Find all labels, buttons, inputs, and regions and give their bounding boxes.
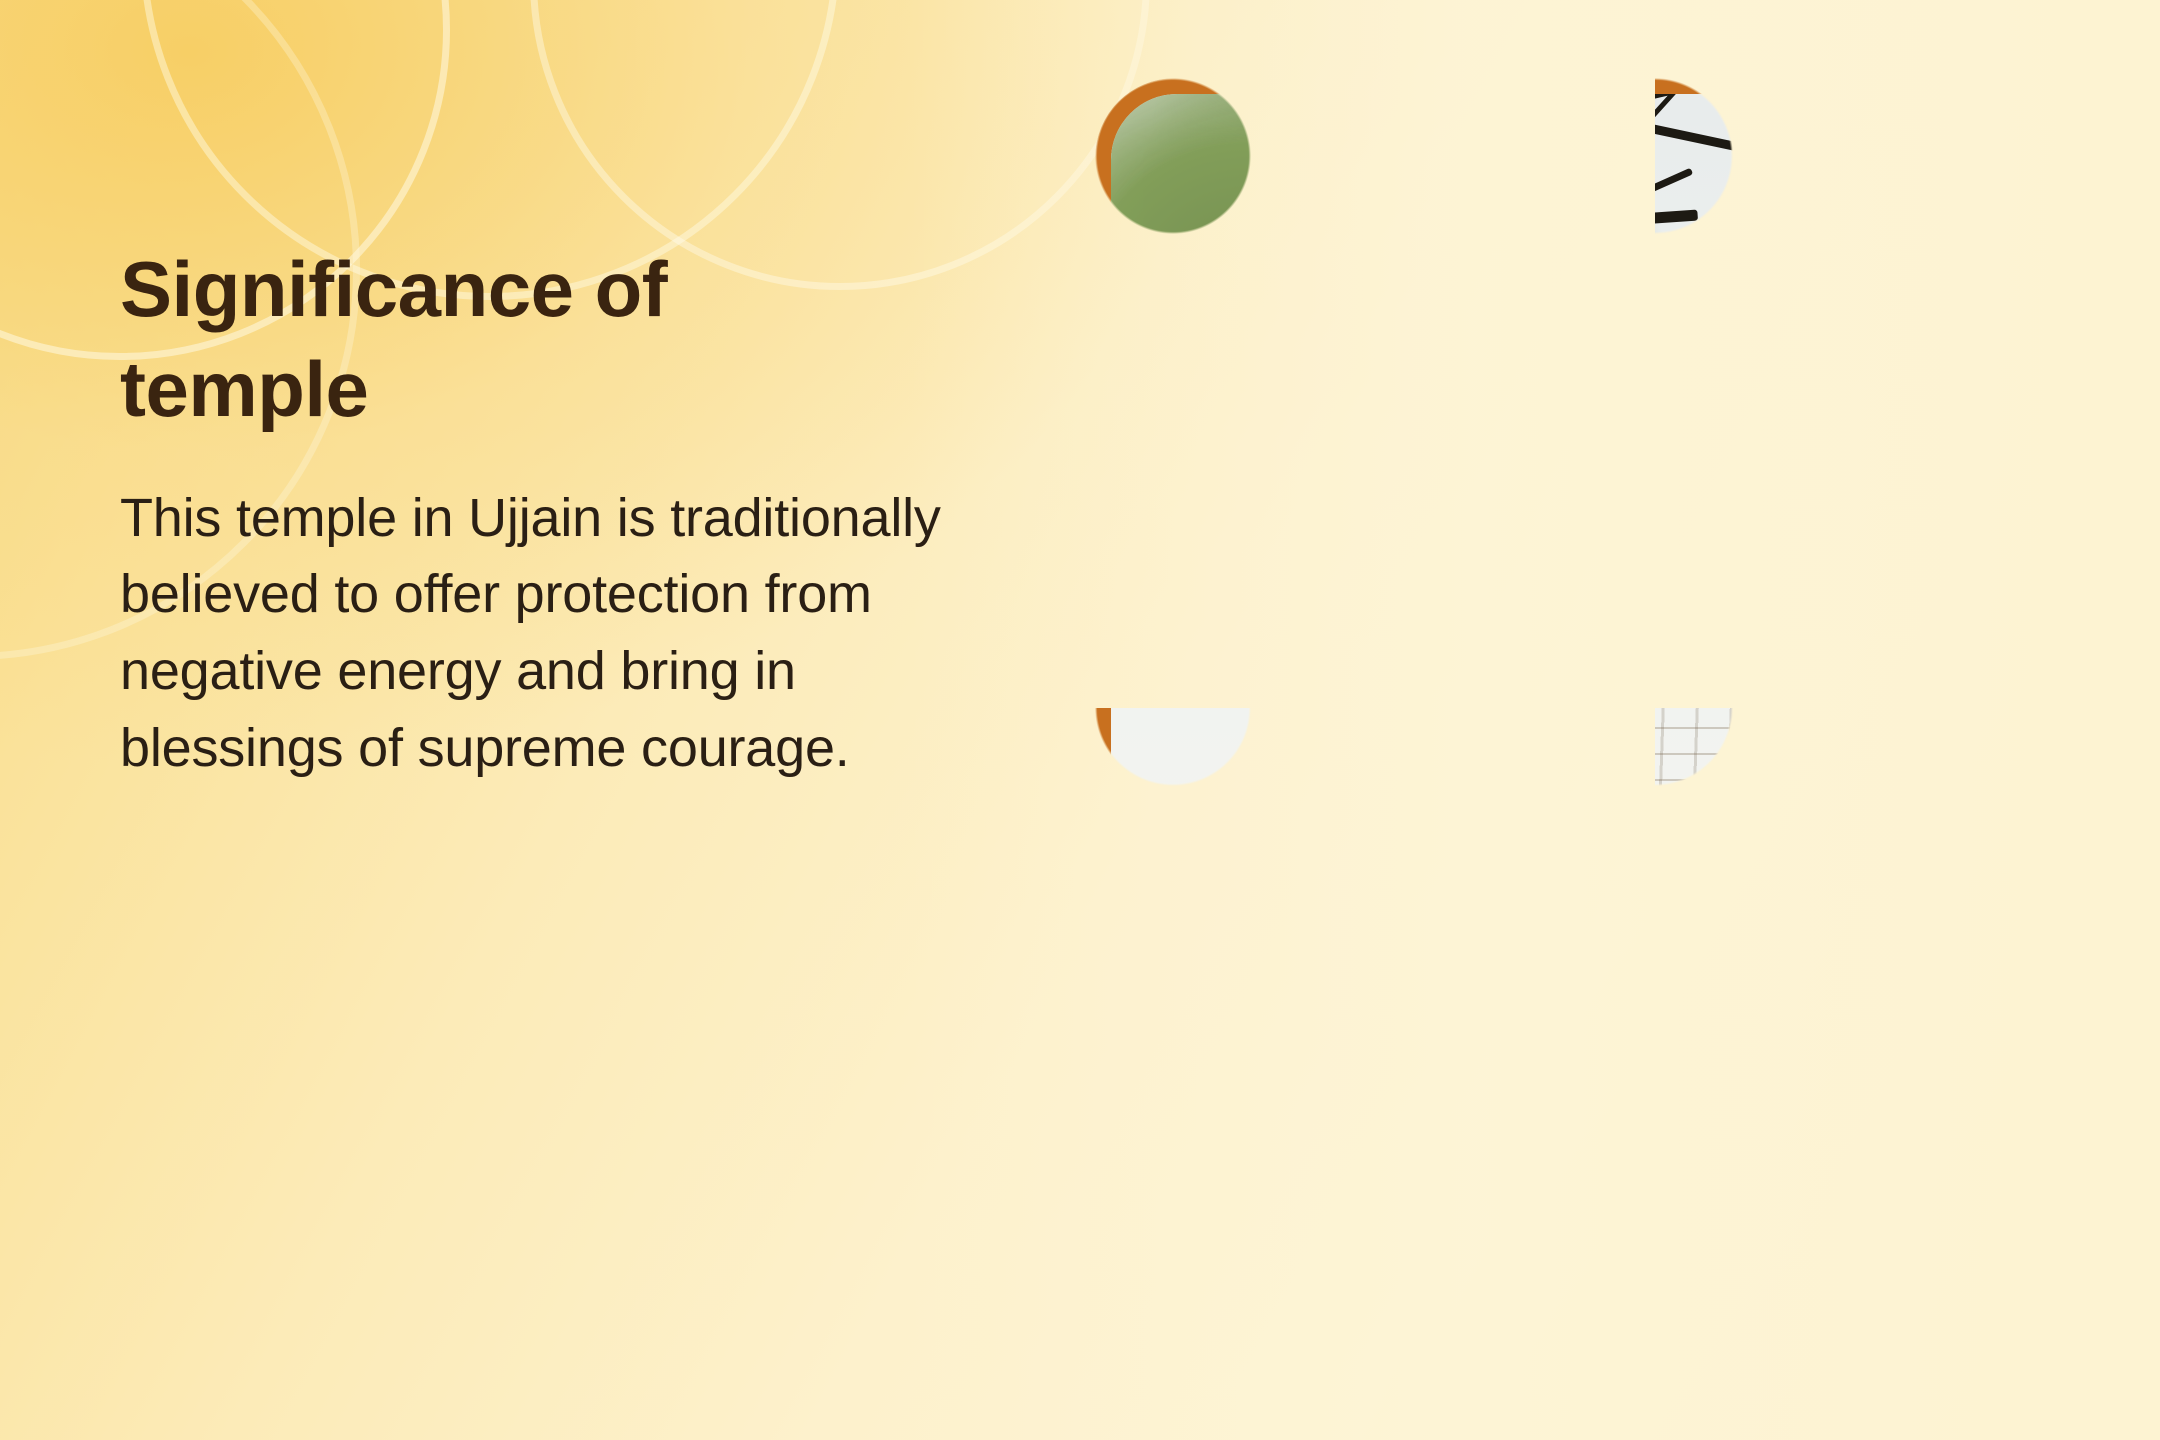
- content-column: Significance of temple This temple in Uj…: [120, 240, 1000, 786]
- spire-niche: [1740, 513, 1804, 692]
- flag-pole: [1981, 94, 1985, 929]
- temple-photo-frame: श्री विक्रांत भैरव मंदिर: [1095, 78, 2160, 1338]
- spire-finial-icon: [1777, 114, 1783, 155]
- spire-ribs: [1579, 155, 1982, 843]
- temple-photo: श्री विक्रांत भैरव मंदिर: [1111, 94, 2160, 1322]
- temple-mandapa: [1111, 1021, 2160, 1322]
- temple-nameboard: श्री विक्रांत भैरव मंदिर: [1252, 911, 1905, 1022]
- page-title: Significance of temple: [120, 240, 820, 440]
- devotee-crowd: [1111, 1190, 2160, 1322]
- notice-board: [2090, 880, 2160, 1248]
- flag-icon: [1981, 290, 2015, 410]
- trishul-emblem-icon: [1274, 937, 1332, 995]
- temple-shikhara: [1579, 155, 1982, 843]
- temple-name-text: श्री विक्रांत भैरव मंदिर: [1350, 935, 1716, 997]
- body-paragraph: This temple in Ujjain is traditionally b…: [120, 480, 980, 787]
